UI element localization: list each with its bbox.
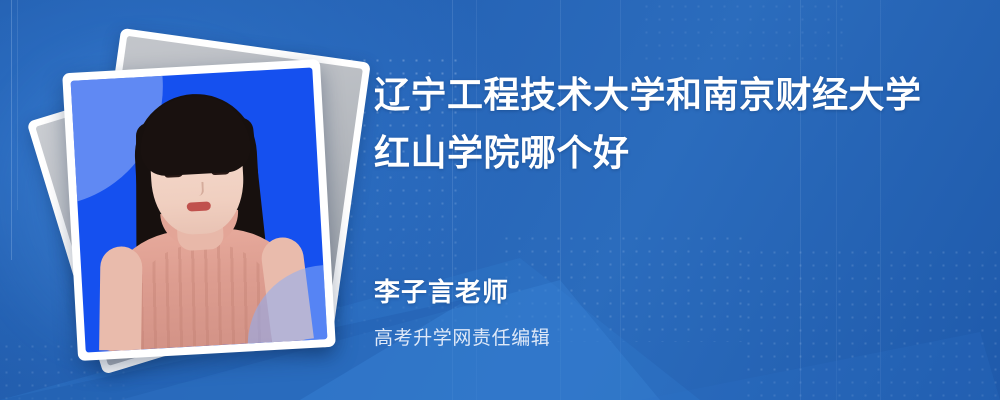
photo-card-stack [52,36,352,366]
mouth [187,201,211,211]
author-byline: 李子言老师 高考升学网责任编辑 [374,272,874,350]
banner-content: 辽宁工程技术大学和南京财经大学红山学院哪个好 李子言老师 高考升学网责任编辑 [374,0,974,400]
hair-front [138,93,252,177]
author-name: 李子言老师 [374,272,874,309]
page-title: 辽宁工程技术大学和南京财经大学红山学院哪个好 [374,66,954,182]
article-banner: 辽宁工程技术大学和南京财经大学红山学院哪个好 李子言老师 高考升学网责任编辑 [0,0,1000,400]
author-photo-card [62,59,336,361]
arm-left [99,246,142,351]
arm-right [259,235,314,343]
person-illustration [71,67,328,352]
author-role: 高考升学网责任编辑 [374,323,874,350]
author-portrait-photo [71,67,328,352]
